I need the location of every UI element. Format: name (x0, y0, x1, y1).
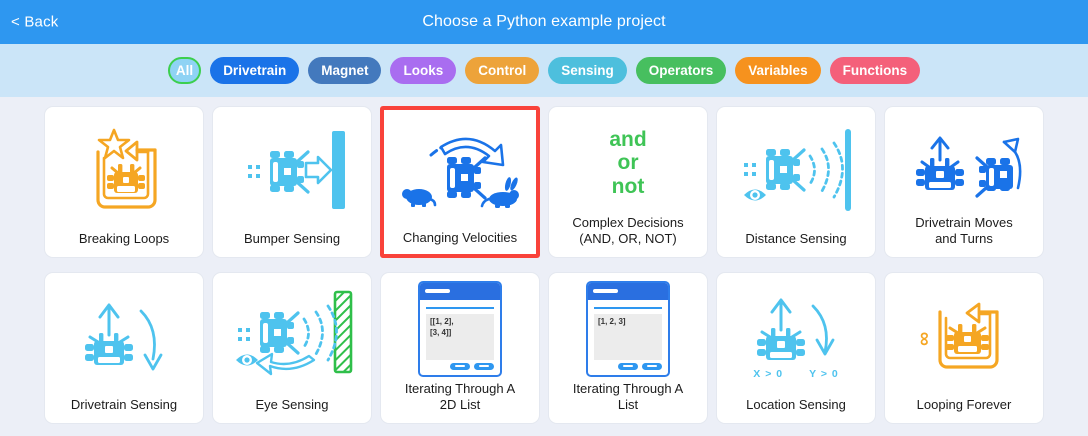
console-output-list: [1, 2, 3] (594, 314, 662, 360)
filter-pill-operators[interactable]: Operators (636, 57, 727, 84)
console-titlebar (588, 283, 668, 300)
back-button[interactable]: < Back (11, 14, 58, 31)
project-card-drivetrain-sensing[interactable]: Drivetrain Sensing (44, 272, 204, 424)
project-card-label: Iterating Through A List (549, 381, 707, 423)
filter-pill-label: Magnet (321, 64, 368, 78)
filter-pill-variables[interactable]: Variables (735, 57, 820, 84)
changing-velocities-icon (384, 110, 536, 230)
project-card-label: Complex Decisions (AND, OR, NOT) (549, 215, 707, 257)
filter-pill-label: Variables (748, 64, 807, 78)
location-sensing-icon: X > 0 Y > 0 (717, 273, 875, 397)
drivetrain-sensing-icon (45, 273, 203, 397)
filter-pill-label: Drivetrain (223, 64, 286, 78)
project-card-drivetrain-moves-and-turns[interactable]: Drivetrain Moves and Turns (884, 106, 1044, 258)
project-card-complex-decisions[interactable]: and or not Complex Decisions (AND, OR, N… (548, 106, 708, 258)
console-window-icon: [1, 2, 3] (549, 273, 707, 381)
filter-pill-looks[interactable]: Looks (390, 57, 456, 84)
example-project-grid: Breaking Loops (44, 106, 1044, 424)
eye-sensing-icon (213, 273, 371, 397)
console-output-2d-list: [[1, 2], [3, 4]] (426, 314, 494, 360)
console-divider (426, 307, 494, 309)
project-card-label: Location Sensing (717, 397, 875, 423)
bumper-sensing-icon (213, 107, 371, 231)
location-y-label: Y > 0 (809, 368, 839, 380)
page-title: Choose a Python example project (422, 13, 665, 31)
project-card-label: Eye Sensing (213, 397, 371, 423)
project-card-label: Changing Velocities (384, 230, 536, 254)
filter-pill-label: Sensing (561, 64, 614, 78)
project-card-label: Iterating Through A 2D List (381, 381, 539, 423)
category-filter-bar: All Drivetrain Magnet Looks Control Sens… (0, 44, 1088, 97)
console-buttons (588, 360, 668, 375)
console-button-left (618, 363, 638, 370)
project-card-iterating-2d-list[interactable]: [[1, 2], [3, 4]] Iterating Through A 2D … (380, 272, 540, 424)
project-card-label: Drivetrain Moves and Turns (885, 215, 1043, 257)
console-button-left (450, 363, 470, 370)
example-project-grid-area: Breaking Loops (0, 97, 1088, 436)
looping-forever-icon: ∞ (885, 273, 1043, 397)
filter-pill-label: Functions (843, 64, 908, 78)
operator-or-text: or (618, 151, 639, 175)
project-card-label: Breaking Loops (45, 231, 203, 257)
filter-pill-sensing[interactable]: Sensing (548, 57, 627, 84)
filter-pill-functions[interactable]: Functions (830, 57, 921, 84)
console-buttons (420, 360, 500, 375)
distance-sensing-icon (717, 107, 875, 231)
filter-pill-control[interactable]: Control (465, 57, 539, 84)
filter-pill-magnet[interactable]: Magnet (308, 57, 381, 84)
project-card-label: Looping Forever (885, 397, 1043, 423)
breaking-loops-icon (45, 107, 203, 231)
project-card-label: Bumper Sensing (213, 231, 371, 257)
project-card-distance-sensing[interactable]: Distance Sensing (716, 106, 876, 258)
console-button-right (474, 363, 494, 370)
filter-pill-label: Looks (403, 64, 443, 78)
filter-pill-label: Operators (649, 64, 714, 78)
filter-pill-all[interactable]: All (168, 57, 201, 84)
console-titlebar (420, 283, 500, 300)
operator-not-text: not (612, 175, 645, 199)
console-button-right (642, 363, 662, 370)
project-card-bumper-sensing[interactable]: Bumper Sensing (212, 106, 372, 258)
project-card-breaking-loops[interactable]: Breaking Loops (44, 106, 204, 258)
filter-pill-label: Control (478, 64, 526, 78)
console-title-placeholder (593, 289, 618, 293)
project-card-looping-forever[interactable]: ∞ (884, 272, 1044, 424)
infinity-symbol: ∞ (913, 332, 935, 346)
operator-and-text: and (609, 128, 646, 152)
app-header: < Back Choose a Python example project (0, 0, 1088, 44)
location-x-label: X > 0 (753, 368, 783, 380)
filter-pill-drivetrain[interactable]: Drivetrain (210, 57, 299, 84)
project-card-location-sensing[interactable]: X > 0 Y > 0 Location Sensing (716, 272, 876, 424)
project-card-eye-sensing[interactable]: Eye Sensing (212, 272, 372, 424)
console-window-icon: [[1, 2], [3, 4]] (381, 273, 539, 381)
console-divider (594, 307, 662, 309)
drivetrain-moves-icon (885, 107, 1043, 215)
project-card-changing-velocities[interactable]: Changing Velocities (380, 106, 540, 258)
and-or-not-text-icon: and or not (549, 107, 707, 215)
project-card-label: Distance Sensing (717, 231, 875, 257)
project-card-iterating-list[interactable]: [1, 2, 3] Iterating Through A List (548, 272, 708, 424)
filter-pill-label: All (176, 64, 193, 78)
project-card-label: Drivetrain Sensing (45, 397, 203, 423)
console-title-placeholder (425, 289, 450, 293)
